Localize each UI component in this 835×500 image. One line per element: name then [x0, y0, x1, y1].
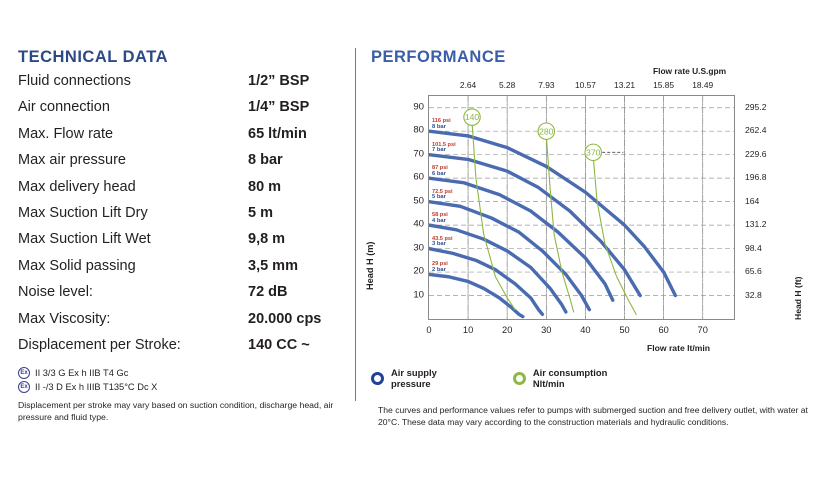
y-right-tick-label: 65.6 [745, 266, 762, 276]
spec-value: 140 CC ~ [248, 337, 310, 353]
y-right-tick-label: 98.4 [745, 243, 762, 253]
y-tick-label: 80 [413, 125, 424, 136]
y-tick-label: 60 [413, 172, 424, 183]
spec-value: 65 lt/min [248, 126, 307, 142]
spec-value: 20.000 cps [248, 311, 321, 327]
svg-text:140: 140 [465, 112, 480, 122]
spec-row: Noise level:72 dB [18, 284, 348, 310]
spec-label: Noise level: [18, 284, 248, 300]
spec-row: Max Solid passing3,5 mm [18, 258, 348, 284]
spec-label: Max. Flow rate [18, 126, 248, 142]
x-tick-label: 10 [463, 325, 473, 335]
curve-pressure-tag: 72.5 psi5 bar [432, 190, 453, 202]
spec-value: 8 bar [248, 152, 283, 168]
spec-label: Max air pressure [18, 152, 248, 168]
atex-text: II 3/3 G Ex h IIB T4 Gc [35, 368, 128, 378]
spec-label: Max Solid passing [18, 258, 248, 274]
right-axis-title: Head H (ft) [793, 277, 803, 320]
curve-pressure-tag: 87 psi6 bar [432, 166, 448, 178]
spec-label: Max delivery head [18, 179, 248, 195]
technical-note: Displacement per stroke may vary based o… [18, 400, 338, 423]
spec-row: Max Suction Lift Wet9,8 m [18, 231, 348, 257]
y-tick-label: 10 [413, 289, 424, 300]
technical-data-section: TECHNICAL DATA Fluid connections1/2” BSP… [18, 48, 348, 424]
y-right-tick-label: 262.4 [745, 125, 767, 135]
air-supply-ring-icon [371, 372, 384, 385]
spec-value: 3,5 mm [248, 258, 298, 274]
spec-label: Max Suction Lift Dry [18, 205, 248, 221]
spec-value: 80 m [248, 179, 281, 195]
atex-marking-block: ExII 3/3 G Ex h IIB T4 GcExII -/3 D Ex h… [18, 367, 348, 393]
spec-value: 1/4” BSP [248, 99, 309, 115]
y-tick-label: 90 [413, 101, 424, 112]
spec-value: 5 m [248, 205, 273, 221]
curve-pressure-tag: 29 psi2 bar [432, 262, 448, 274]
plot-area: 140280370 [428, 95, 735, 320]
y-right-tick-label: 164 [745, 196, 759, 206]
curve-pressure-tag: 58 psi4 bar [432, 213, 448, 225]
svg-text:280: 280 [539, 126, 554, 136]
spec-label: Fluid connections [18, 73, 248, 89]
y-right-tick-label: 229.6 [745, 149, 767, 159]
spec-row: Air connection1/4” BSP [18, 99, 348, 125]
spec-value: 72 dB [248, 284, 288, 300]
legend-label-line2: pressure [391, 378, 437, 389]
atex-ex-icon: Ex [18, 381, 30, 393]
y-tick-label: 20 [413, 266, 424, 277]
x-tick-label: 60 [658, 325, 668, 335]
x-tick-label: 40 [580, 325, 590, 335]
spec-label: Max Viscosity: [18, 311, 248, 327]
legend-item: Air consumptionNlt/min [513, 367, 607, 390]
y-right-tick-label: 295.2 [745, 102, 767, 112]
curve-bar-label: 5 bar [432, 195, 453, 201]
left-axis-title: Head H (m) [365, 242, 375, 291]
y-tick-label: 70 [413, 148, 424, 159]
top-tick-label: 18.49 [692, 80, 713, 90]
curve-pressure-tag: 101.5 psi7 bar [432, 143, 456, 155]
top-tick-label: 15.85 [653, 80, 674, 90]
spec-list: Fluid connections1/2” BSPAir connection1… [18, 73, 348, 363]
spec-row: Max Viscosity:20.000 cps [18, 311, 348, 337]
spec-value: 9,8 m [248, 231, 285, 247]
spec-row: Displacement per Stroke:140 CC ~ [18, 337, 348, 363]
y-tick-label: 50 [413, 195, 424, 206]
y-right-tick-label: 32.8 [745, 290, 762, 300]
top-axis-title: Flow rate U.S.gpm [653, 66, 726, 76]
x-tick-label: 70 [698, 325, 708, 335]
atex-ex-icon: Ex [18, 367, 30, 379]
curve-bar-label: 3 bar [432, 242, 453, 248]
performance-note: The curves and performance values refer … [378, 404, 830, 428]
performance-chart: Flow rate U.S.gpm 2.645.287.9310.5713.21… [371, 62, 835, 362]
air-consumption-bubble: 280 [538, 123, 554, 139]
y-right-tick-label: 196.8 [745, 172, 767, 182]
legend-label-line1: Air consumption [533, 367, 607, 378]
atex-line: ExII 3/3 G Ex h IIB T4 Gc [18, 367, 348, 379]
atex-line: ExII -/3 D Ex h IIIB T135°C Dc X [18, 381, 348, 393]
spec-value: 1/2” BSP [248, 73, 309, 89]
x-tick-label: 30 [541, 325, 551, 335]
column-divider [355, 48, 356, 401]
x-tick-label: 50 [619, 325, 629, 335]
air-consumption-ring-icon [513, 372, 526, 385]
spec-row: Fluid connections1/2” BSP [18, 73, 348, 99]
datasheet-page: TECHNICAL DATA Fluid connections1/2” BSP… [0, 0, 835, 500]
spec-label: Air connection [18, 99, 248, 115]
legend-label: Air supplypressure [391, 367, 437, 390]
spec-row: Max air pressure8 bar [18, 152, 348, 178]
left-axis-ticks: 102030405060708090 [385, 95, 424, 320]
spec-label: Displacement per Stroke: [18, 337, 248, 353]
top-tick-label: 5.28 [499, 80, 515, 90]
y-right-tick-label: 131.2 [745, 219, 767, 229]
atex-text: II -/3 D Ex h IIIB T135°C Dc X [35, 382, 157, 392]
top-tick-label: 10.57 [575, 80, 596, 90]
top-tick-label: 7.93 [538, 80, 554, 90]
legend-label: Air consumptionNlt/min [533, 367, 607, 390]
svg-text:370: 370 [586, 147, 601, 157]
curve-bar-label: 8 bar [432, 125, 451, 131]
air-consumption-bubble: 370 [585, 144, 601, 160]
curve-bar-label: 7 bar [432, 148, 456, 154]
curve-bar-label: 4 bar [432, 219, 448, 225]
top-tick-label: 13.21 [614, 80, 635, 90]
curves-svg: 140280370 [429, 96, 734, 319]
technical-data-title: TECHNICAL DATA [18, 48, 348, 67]
spec-label: Max Suction Lift Wet [18, 231, 248, 247]
x-tick-label: 20 [502, 325, 512, 335]
air-consumption-bubble: 140 [464, 109, 480, 125]
x-tick-label: 0 [426, 325, 431, 335]
top-tick-label: 2.64 [460, 80, 476, 90]
curve-pressure-tag: 116 psi8 bar [432, 119, 451, 131]
spec-row: Max delivery head80 m [18, 179, 348, 205]
curve-pressure-tag: 43.5 psi3 bar [432, 237, 453, 249]
curve-bar-label: 2 bar [432, 268, 448, 274]
curve-bar-label: 6 bar [432, 172, 448, 178]
legend-label-line2: Nlt/min [533, 378, 607, 389]
bottom-axis-title: Flow rate lt/min [647, 343, 710, 353]
legend-item: Air supplypressure [371, 367, 437, 390]
spec-row: Max Suction Lift Dry5 m [18, 205, 348, 231]
spec-row: Max. Flow rate65 lt/min [18, 126, 348, 152]
y-tick-label: 30 [413, 242, 424, 253]
right-axis-ticks: 32.865.698.4131.2164196.8229.6262.4295.2 [739, 95, 787, 320]
y-tick-label: 40 [413, 219, 424, 230]
legend-label-line1: Air supply [391, 367, 437, 378]
chart-legend: Air supplypressureAir consumptionNlt/min [371, 367, 607, 390]
